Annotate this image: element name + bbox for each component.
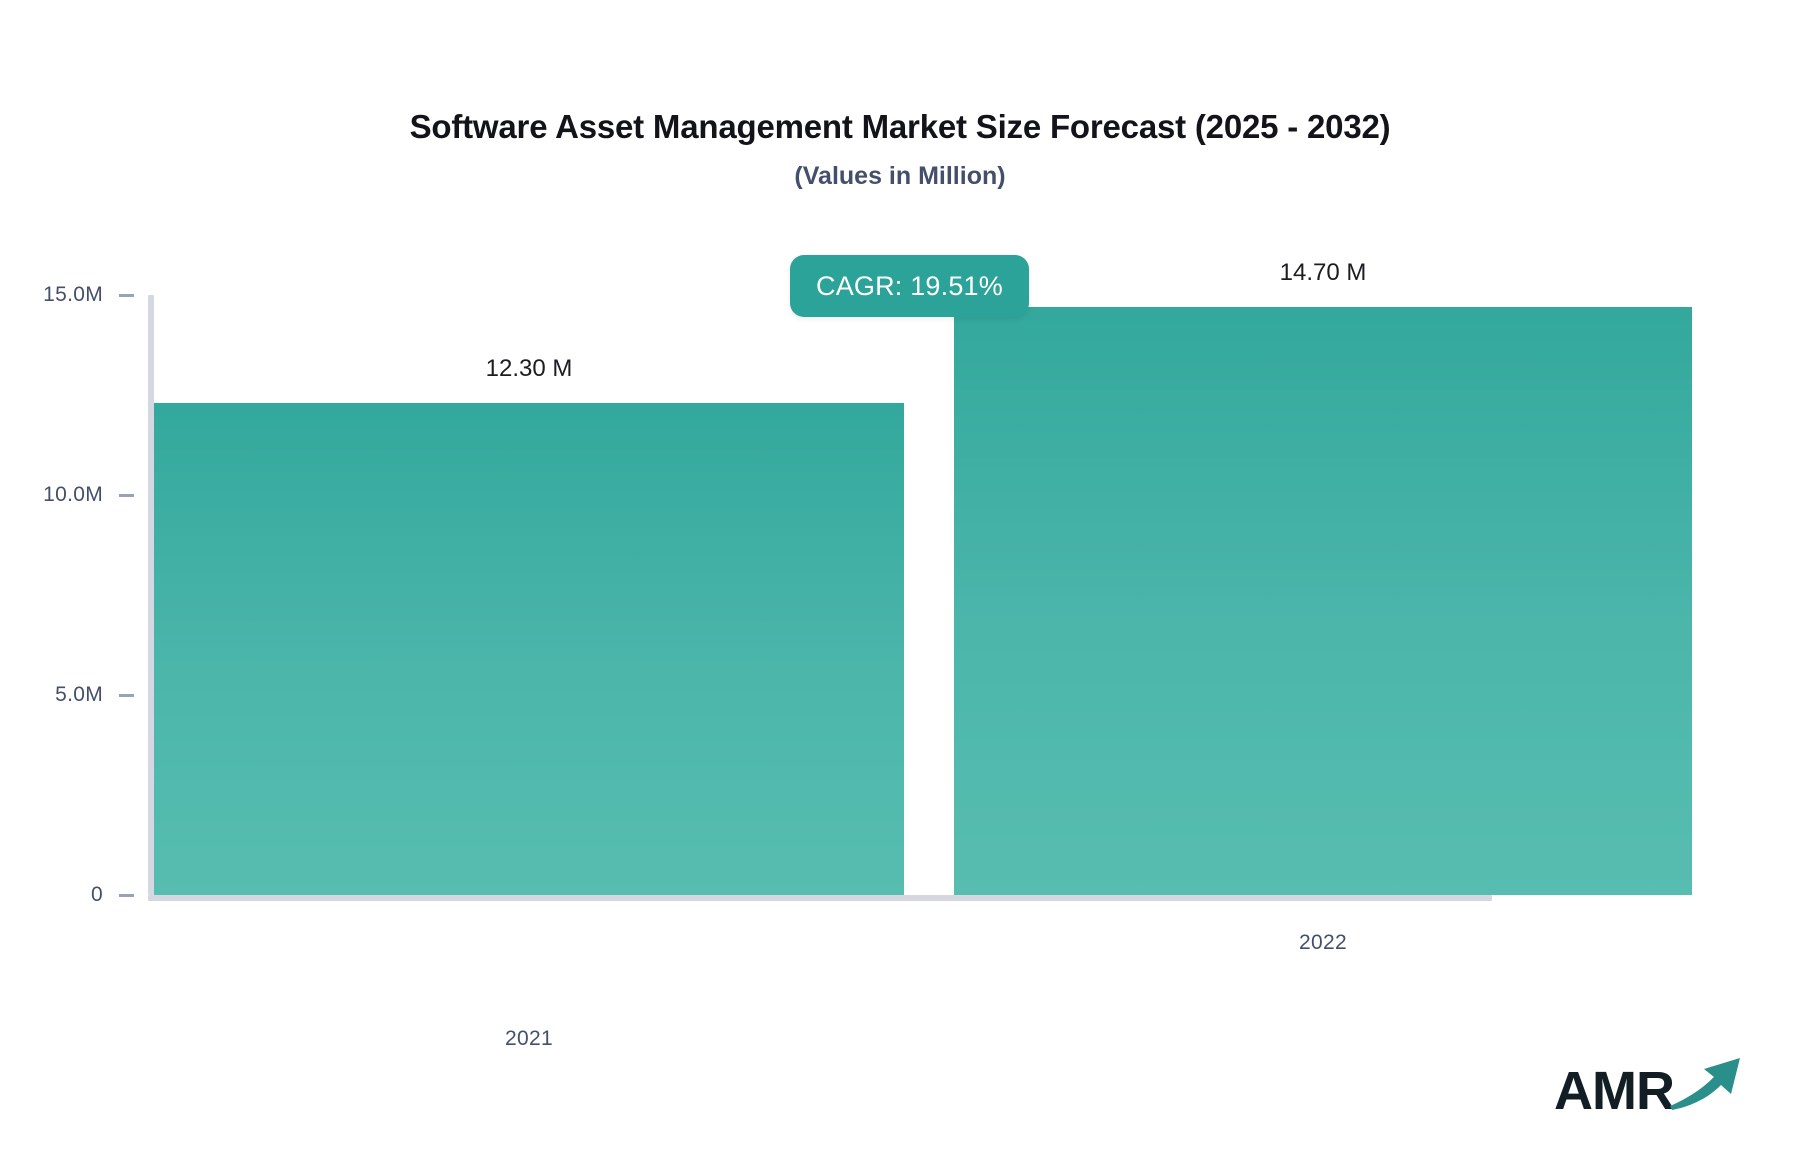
amr-logo: AMR: [1554, 1053, 1744, 1118]
y-tick-label: 0: [91, 883, 103, 907]
cagr-badge-label: CAGR: 19.51%: [816, 271, 1003, 302]
y-tick-dash-icon: [119, 694, 134, 697]
y-axis-ticks: 15.0M 10.0M 5.0M 0: [0, 295, 148, 895]
bar-2021[interactable]: 12.30 M 2021: [154, 403, 904, 895]
amr-logo-text: AMR: [1554, 1064, 1674, 1118]
y-tick-15m: 15.0M: [43, 283, 148, 307]
y-tick-label: 15.0M: [43, 283, 103, 307]
bar-value-label: 12.30 M: [154, 355, 904, 383]
y-tick-label: 10.0M: [43, 483, 103, 507]
y-tick-label: 5.0M: [55, 683, 103, 707]
y-tick-dash-icon: [119, 494, 134, 497]
chart-container: Software Asset Management Market Size Fo…: [0, 0, 1800, 1156]
y-tick-5m: 5.0M: [55, 683, 148, 707]
x-tick-label-2021: 2021: [154, 1027, 904, 1051]
cagr-badge: CAGR: 19.51%: [790, 255, 1029, 317]
bar-2022[interactable]: 14.70 M 2022: [954, 307, 1692, 895]
bar-value-label: 14.70 M: [954, 259, 1692, 287]
chart-title: Software Asset Management Market Size Fo…: [0, 108, 1800, 146]
growth-arrow-icon: [1668, 1053, 1744, 1116]
chart-subtitle: (Values in Million): [0, 162, 1800, 191]
plot-area: 15.0M 10.0M 5.0M 0 12.30 M 2021 14.70 M: [148, 295, 1492, 895]
chart-header: Software Asset Management Market Size Fo…: [0, 108, 1800, 191]
y-tick-10m: 10.0M: [43, 483, 148, 507]
x-axis-line: [148, 895, 1492, 901]
y-tick-dash-icon: [119, 894, 134, 897]
y-tick-dash-icon: [119, 294, 134, 297]
y-tick-0: 0: [91, 883, 148, 907]
x-tick-label-2022: 2022: [954, 931, 1692, 955]
